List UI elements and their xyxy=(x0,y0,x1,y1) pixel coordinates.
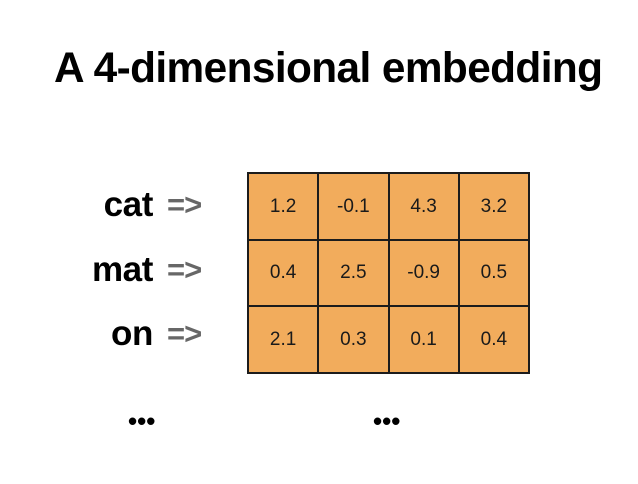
embedding-cell: 1.2 xyxy=(248,173,318,240)
ellipsis-matrix: ••• xyxy=(373,408,400,434)
word-label-column: cat => mat => on => xyxy=(0,172,247,366)
word-row-mat: mat => xyxy=(0,237,247,302)
word-row-cat: cat => xyxy=(0,172,247,237)
ellipsis-words: ••• xyxy=(128,408,155,434)
table-row: 1.2 -0.1 4.3 3.2 xyxy=(248,173,529,240)
table-row: 0.4 2.5 -0.9 0.5 xyxy=(248,240,529,307)
word-label: cat xyxy=(104,187,153,222)
slide-canvas: A 4-dimensional embedding cat => mat => … xyxy=(0,0,638,484)
embedding-cell: 0.4 xyxy=(459,306,529,373)
table-row: 2.1 0.3 0.1 0.4 xyxy=(248,306,529,373)
embedding-cell: 2.1 xyxy=(248,306,318,373)
word-row-on: on => xyxy=(0,301,247,366)
embedding-cell: -0.1 xyxy=(318,173,388,240)
embedding-cell: 0.4 xyxy=(248,240,318,307)
word-label: mat xyxy=(92,252,153,287)
embedding-cell: 0.1 xyxy=(389,306,459,373)
word-label: on xyxy=(111,316,153,351)
maps-to-arrow-icon: => xyxy=(167,254,213,285)
page-title: A 4-dimensional embedding xyxy=(54,47,598,90)
embedding-cell: 0.3 xyxy=(318,306,388,373)
embedding-cell: -0.9 xyxy=(389,240,459,307)
maps-to-arrow-icon: => xyxy=(167,189,213,220)
maps-to-arrow-icon: => xyxy=(167,318,213,349)
embedding-cell: 3.2 xyxy=(459,173,529,240)
embedding-cell: 4.3 xyxy=(389,173,459,240)
embedding-matrix: 1.2 -0.1 4.3 3.2 0.4 2.5 -0.9 0.5 2.1 0.… xyxy=(247,172,530,374)
embedding-cell: 0.5 xyxy=(459,240,529,307)
embedding-cell: 2.5 xyxy=(318,240,388,307)
